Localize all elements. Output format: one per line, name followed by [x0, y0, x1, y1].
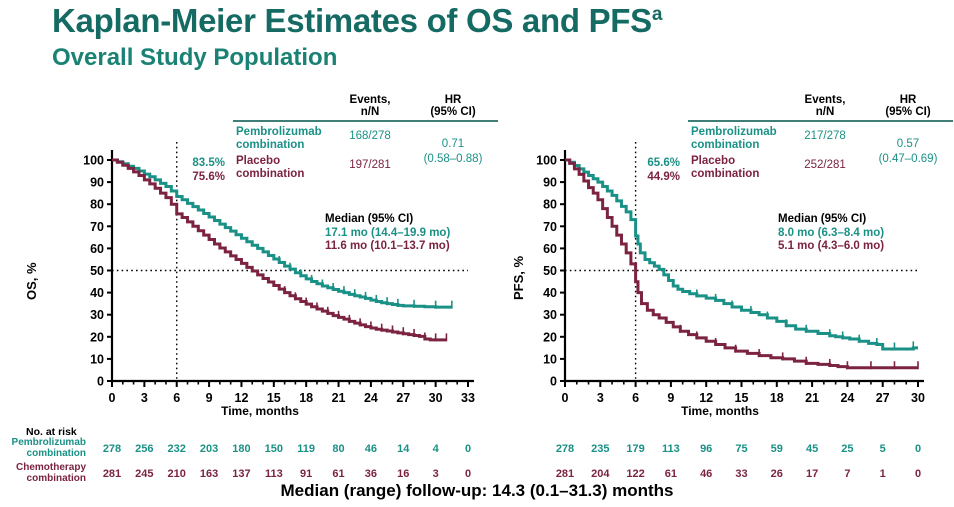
risk-value-chemo: 36	[358, 468, 384, 480]
risk-value-chemo: 33	[729, 468, 755, 480]
risk-chemo-line1: Chemotherapy	[16, 462, 86, 473]
risk-value-pembro: 235	[587, 443, 613, 455]
risk-value-chemo: 281	[99, 468, 125, 480]
risk-value-pembro: 179	[623, 443, 649, 455]
risk-value-pembro: 0	[905, 443, 931, 455]
risk-value-pembro: 119	[293, 443, 319, 455]
risk-value-pembro: 4	[423, 443, 449, 455]
risk-value-chemo: 210	[164, 468, 190, 480]
risk-value-pembro: 203	[196, 443, 222, 455]
risk-value-pembro: 14	[390, 443, 416, 455]
risk-value-pembro: 96	[693, 443, 719, 455]
risk-value-chemo: 137	[228, 468, 254, 480]
risk-value-pembro: 75	[729, 443, 755, 455]
risk-value-pembro: 150	[261, 443, 287, 455]
footer-note: Median (range) follow-up: 14.3 (0.1–31.3…	[0, 481, 954, 501]
risk-value-pembro: 113	[658, 443, 684, 455]
risk-value-chemo: 281	[552, 468, 578, 480]
risk-value-chemo: 0	[455, 468, 481, 480]
risk-value-pembro: 278	[552, 443, 578, 455]
risk-value-chemo: 163	[196, 468, 222, 480]
risk-value-chemo: 61	[658, 468, 684, 480]
risk-value-chemo: 7	[834, 468, 860, 480]
risk-value-pembro: 46	[358, 443, 384, 455]
risk-label-pembrolizumab: Pembrolizumab combination	[0, 437, 86, 459]
risk-value-pembro: 80	[326, 443, 352, 455]
risk-value-pembro: 232	[164, 443, 190, 455]
risk-value-pembro: 5	[870, 443, 896, 455]
risk-value-chemo: 91	[293, 468, 319, 480]
risk-value-chemo: 16	[390, 468, 416, 480]
risk-value-chemo: 61	[326, 468, 352, 480]
risk-value-chemo: 245	[131, 468, 157, 480]
risk-pembro-line2: combination	[27, 448, 86, 459]
risk-value-chemo: 46	[693, 468, 719, 480]
risk-value-pembro: 25	[834, 443, 860, 455]
risk-value-pembro: 59	[764, 443, 790, 455]
risk-value-chemo: 0	[905, 468, 931, 480]
risk-value-pembro: 278	[99, 443, 125, 455]
risk-value-chemo: 26	[764, 468, 790, 480]
risk-value-pembro: 256	[131, 443, 157, 455]
risk-value-chemo: 3	[423, 468, 449, 480]
risk-value-chemo: 113	[261, 468, 287, 480]
risk-value-chemo: 204	[587, 468, 613, 480]
risk-value-chemo: 122	[623, 468, 649, 480]
risk-value-pembro: 45	[799, 443, 825, 455]
risk-value-chemo: 17	[799, 468, 825, 480]
risk-table: No. at risk Pembrolizumab combination Ch…	[0, 0, 954, 507]
risk-value-pembro: 0	[455, 443, 481, 455]
risk-value-pembro: 180	[228, 443, 254, 455]
risk-pembro-line1: Pembrolizumab	[12, 437, 86, 448]
risk-value-chemo: 1	[870, 468, 896, 480]
